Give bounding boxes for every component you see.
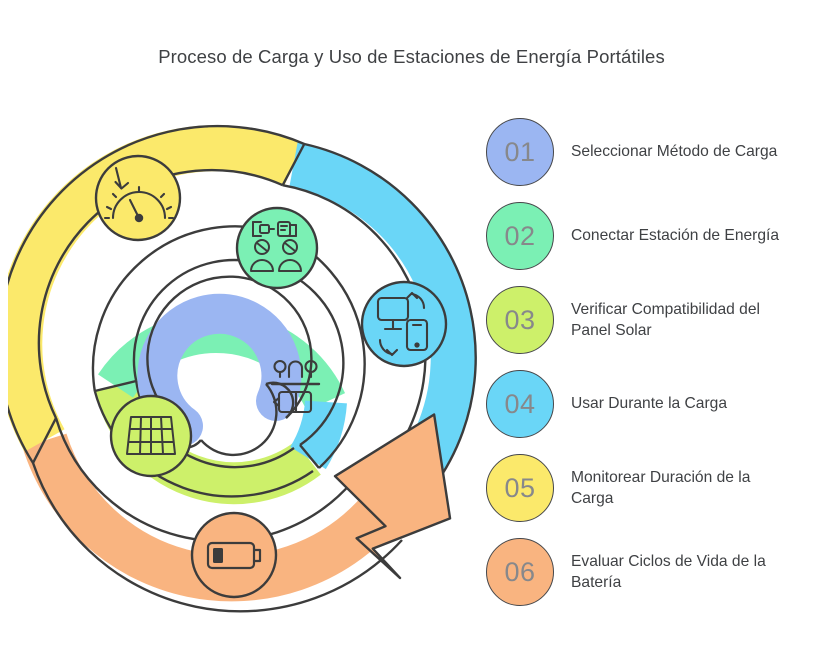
step-badge-03: 03 (486, 286, 554, 354)
legend-item-02[interactable]: 02 Conectar Estación de Energía (486, 197, 816, 275)
spiral-diagram (8, 96, 488, 636)
node-04 (362, 282, 446, 366)
step-badge-01: 01 (486, 118, 554, 186)
legend-item-03[interactable]: 03 Verificar Compatibilidad del Panel So… (486, 281, 816, 359)
infographic-canvas: Proceso de Carga y Uso de Estaciones de … (0, 0, 823, 660)
node-03 (111, 396, 191, 476)
step-label-01: Seleccionar Método de Carga (571, 141, 777, 163)
legend-item-01[interactable]: 01 Seleccionar Método de Carga (486, 113, 816, 191)
step-badge-06: 06 (486, 538, 554, 606)
page-title: Proceso de Carga y Uso de Estaciones de … (0, 46, 823, 68)
node-06 (192, 513, 276, 597)
legend-list: 01 Seleccionar Método de Carga 02 Conect… (486, 113, 816, 633)
step-badge-05: 05 (486, 454, 554, 522)
step-label-05: Monitorear Duración de la Carga (571, 467, 789, 510)
legend-item-04[interactable]: 04 Usar Durante la Carga (486, 365, 816, 443)
step-label-06: Evaluar Ciclos de Vida de la Batería (571, 551, 789, 594)
step-badge-04: 04 (486, 370, 554, 438)
step-badge-02: 02 (486, 202, 554, 270)
step-label-04: Usar Durante la Carga (571, 393, 727, 415)
step-label-02: Conectar Estación de Energía (571, 225, 779, 247)
spiral-svg (8, 96, 488, 636)
node-05 (96, 156, 180, 240)
legend-item-05[interactable]: 05 Monitorear Duración de la Carga (486, 449, 816, 527)
legend-item-06[interactable]: 06 Evaluar Ciclos de Vida de la Batería (486, 533, 816, 611)
node-02 (237, 208, 317, 288)
step-label-03: Verificar Compatibilidad del Panel Solar (571, 299, 789, 342)
